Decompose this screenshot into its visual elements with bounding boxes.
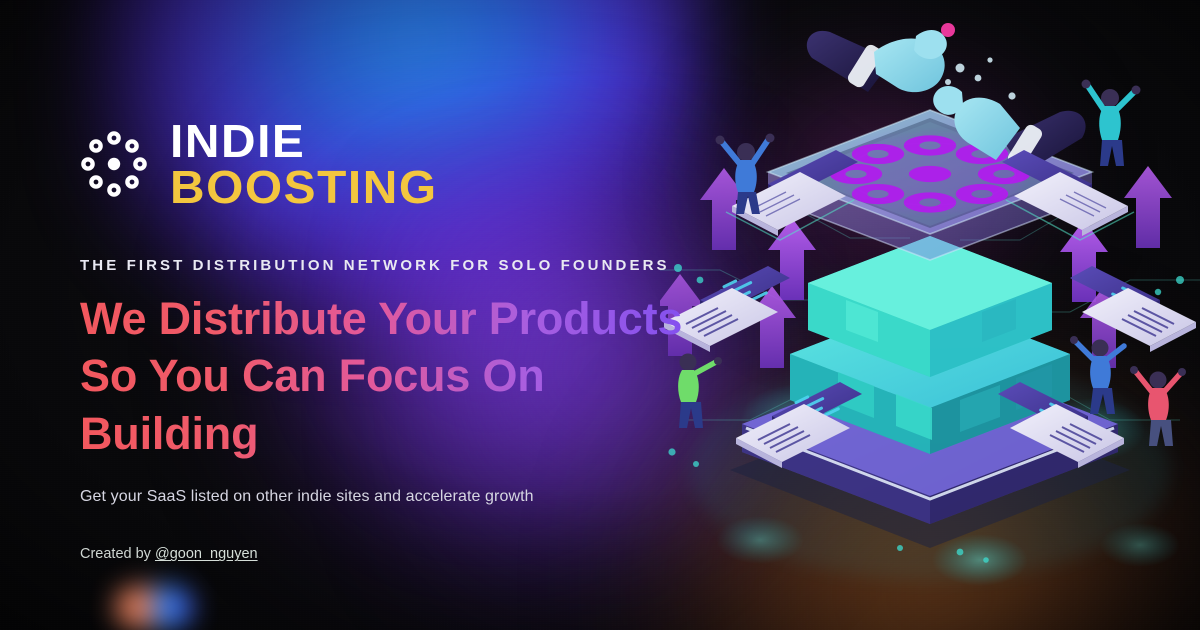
brand-lockup[interactable]: INDIE BOOSTING	[80, 120, 760, 209]
hand-left-placing-node	[807, 23, 955, 92]
social-card-canvas: INDIE BOOSTING THE FIRST DISTRIBUTION NE…	[0, 0, 1200, 630]
hero-eyebrow: THE FIRST DISTRIBUTION NETWORK FOR SOLO …	[80, 257, 760, 274]
blurred-color-badge	[115, 586, 193, 628]
credit-handle-link[interactable]: @goon_nguyen	[155, 546, 258, 562]
brand-name-line1: INDIE	[170, 120, 438, 162]
brand-name-line2: BOOSTING	[170, 166, 438, 208]
credit-prefix: Created by	[80, 546, 155, 562]
brand-wordmark: INDIE BOOSTING	[170, 120, 427, 209]
pink-node	[941, 23, 955, 37]
hero-headline-line1: We Distribute Your Products	[80, 290, 720, 348]
hero-subtext: Get your SaaS listed on other indie site…	[80, 488, 760, 506]
hero-headline-line2: So You Can Focus On Building	[80, 347, 720, 462]
indie-boosting-diamond-dots-logo	[80, 129, 148, 199]
hero-content: INDIE BOOSTING THE FIRST DISTRIBUTION NE…	[80, 120, 760, 628]
credit-line: Created by @goon_nguyen	[80, 546, 760, 562]
hero-headline: We Distribute Your Products So You Can F…	[80, 290, 720, 463]
founder-figure-top-right	[1082, 80, 1141, 167]
